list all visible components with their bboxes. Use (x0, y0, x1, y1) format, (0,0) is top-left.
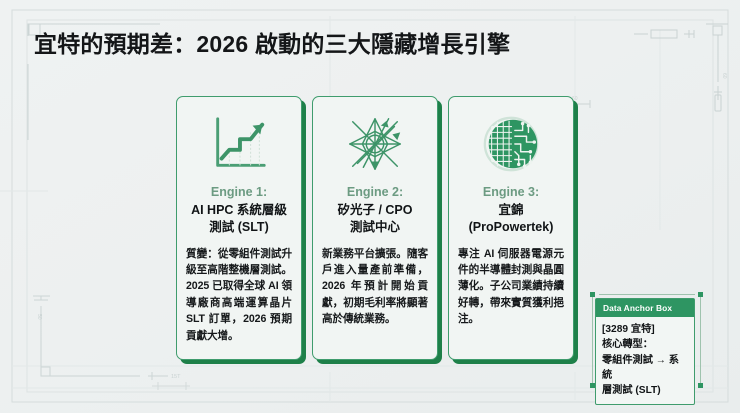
selection-handle-top-right[interactable] (698, 292, 703, 297)
engine-card[interactable]: Engine 3: 宜錦 (ProPowertek) 專注 AI 伺服器電源元件… (448, 96, 574, 360)
selection-handle-bottom-right[interactable] (698, 383, 703, 388)
engine-card[interactable]: Engine 2: 矽光子 / CPO 測試中心 新業務平台擴張。隨客戶進入量產… (312, 96, 438, 360)
semiconductor-wafer-icon (480, 113, 542, 175)
engine-body: 新業務平台擴張。隨客戶進入量產前準備，2026 年預計開始貢獻，初期毛利率將顯著… (322, 246, 428, 328)
data-anchor-box-body: [3289 宜特] 核心轉型： 零組件測試 → 系統 層測試 (SLT) (596, 317, 694, 404)
selection-handle-bottom-left[interactable] (590, 383, 595, 388)
growth-chart-arrow-icon (208, 113, 270, 175)
engine-title: 宜錦 (ProPowertek) (469, 202, 554, 237)
engine-label: Engine 3: (483, 185, 539, 201)
engine-card-row: Engine 1: AI HPC 系統層級 測試 (SLT) 質變：從零組件測試… (176, 96, 574, 360)
engine-label: Engine 2: (347, 185, 403, 201)
engine-body: 專注 AI 伺服器電源元件的半導體封測與晶圓薄化。子公司業績持續好轉，帶來實質獲… (458, 246, 564, 328)
svg-text:60: 60 (721, 73, 727, 79)
data-anchor-box-header: Data Anchor Box (596, 299, 694, 317)
svg-text:15T: 15T (171, 374, 181, 380)
data-anchor-box[interactable]: Data Anchor Box [3289 宜特] 核心轉型： 零組件測試 → … (595, 298, 695, 405)
selection-line-right (700, 297, 701, 385)
engine-label: Engine 1: (211, 185, 267, 201)
photonic-starburst-icon (344, 113, 406, 175)
engine-title: AI HPC 系統層級 測試 (SLT) (191, 202, 287, 237)
data-anchor-box-wrapper[interactable]: Data Anchor Box [3289 宜特] 核心轉型： 零組件測試 → … (595, 298, 695, 405)
engine-card[interactable]: Engine 1: AI HPC 系統層級 測試 (SLT) 質變：從零組件測試… (176, 96, 302, 360)
svg-text:50: 50 (36, 314, 42, 320)
title-bar: 宜特的預期差：2026 啟動的三大隱藏增長引擎 (34, 25, 510, 59)
selection-handle-top-left[interactable] (590, 292, 595, 297)
engine-title: 矽光子 / CPO 測試中心 (337, 202, 412, 237)
engine-body: 質變：從零組件測試升級至高階整機層測試。2025 已取得全球 AI 領導廠商高端… (186, 246, 292, 344)
selection-line-top (599, 294, 695, 295)
page-title: 宜特的預期差：2026 啟動的三大隱藏增長引擎 (34, 25, 510, 59)
selection-line-left (592, 297, 593, 385)
